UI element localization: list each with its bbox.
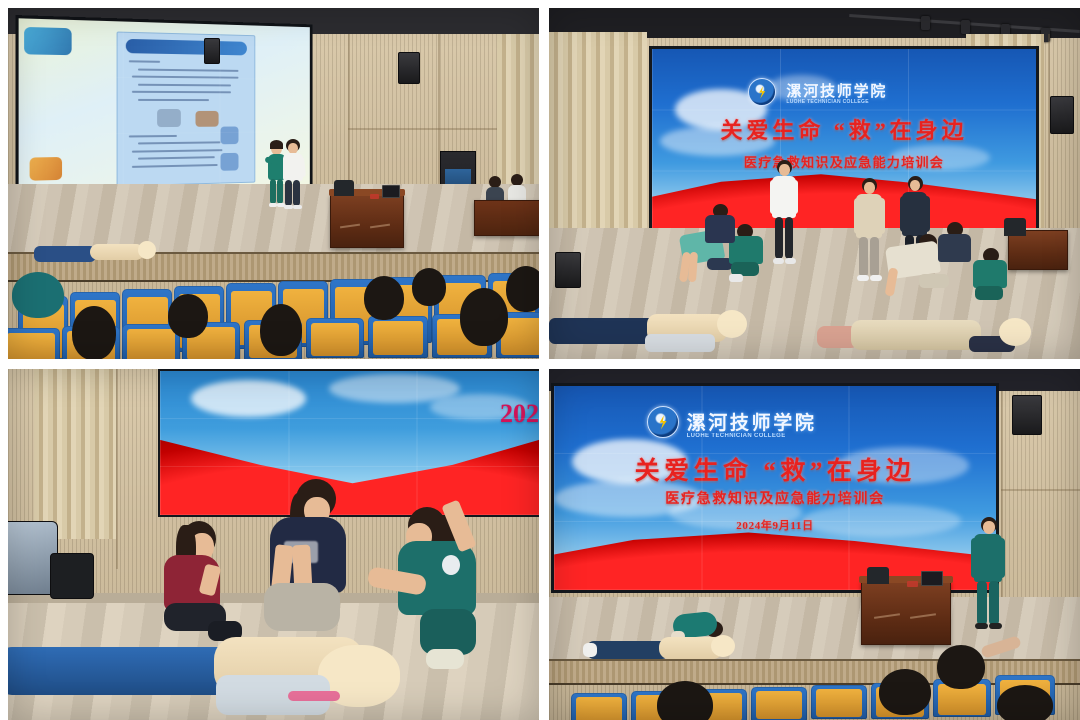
side-table — [474, 200, 539, 236]
volunteer-figure — [282, 139, 304, 209]
kneeling-observer — [969, 248, 1013, 304]
cpr-manikin — [34, 240, 160, 264]
audience-head — [879, 669, 931, 715]
manikin-strap — [288, 691, 340, 701]
cpr-manikin — [8, 625, 418, 717]
wall-speaker — [398, 52, 420, 84]
wall-seam — [116, 369, 118, 569]
stage-curtain — [34, 369, 116, 539]
stage-chair — [1004, 218, 1026, 236]
audience-head — [260, 304, 302, 356]
audience-head — [12, 272, 64, 318]
shoe — [426, 649, 464, 669]
spotlight-icon — [921, 16, 930, 30]
cpr-manikin — [587, 633, 747, 663]
photo-collage: Instructor demonstrating the Heimlich ab… — [0, 0, 1080, 720]
audience-head — [997, 685, 1053, 720]
audience-head — [72, 306, 116, 359]
photo-top-right: Students practicing chest compressions o… — [549, 8, 1080, 359]
stage-chair — [334, 180, 354, 196]
wall-seam — [1001, 489, 1080, 491]
podium — [861, 581, 951, 645]
wall-speaker — [1012, 395, 1042, 435]
audience-seating — [549, 667, 1080, 720]
laptop — [382, 185, 400, 198]
shoe — [583, 643, 597, 657]
cpr-manikin — [817, 314, 1043, 359]
led-panel-grid — [554, 386, 996, 590]
floor-monitor-speaker — [555, 252, 581, 288]
audience-head — [168, 294, 208, 338]
red-box-icon — [370, 194, 379, 199]
standing-student — [771, 160, 797, 266]
uniform-badge-icon — [442, 555, 460, 575]
wall-speaker — [1050, 96, 1074, 134]
red-box-icon — [907, 581, 918, 587]
audience-seating — [8, 270, 539, 359]
audience-head — [506, 266, 539, 312]
podium — [330, 194, 404, 248]
photo-bottom-left: Three trainees kneeling around a CPR man… — [8, 369, 539, 720]
ceiling-speaker — [204, 38, 220, 64]
photo-bottom-right: Full view of auditorium stage with event… — [549, 369, 1080, 720]
led-video-wall: 漯河技师学院 LUOHE TECHNICIAN COLLEGE 关爱生命 “救”… — [551, 383, 999, 593]
audience-head — [364, 276, 404, 320]
equipment-case — [50, 553, 94, 599]
spotlight-icon — [961, 20, 970, 34]
kneeling-observer — [703, 204, 739, 256]
laptop — [921, 571, 943, 586]
side-table — [1008, 230, 1068, 270]
stage-chair — [867, 567, 889, 584]
photo-top-left: Instructor demonstrating the Heimlich ab… — [8, 8, 539, 359]
audience-head — [937, 645, 985, 689]
audience-head — [460, 288, 508, 346]
audience-head — [657, 681, 713, 720]
trousers — [264, 583, 340, 631]
audience-head — [412, 268, 446, 306]
cpr-manikin — [549, 308, 759, 354]
staff-member — [973, 517, 1003, 631]
